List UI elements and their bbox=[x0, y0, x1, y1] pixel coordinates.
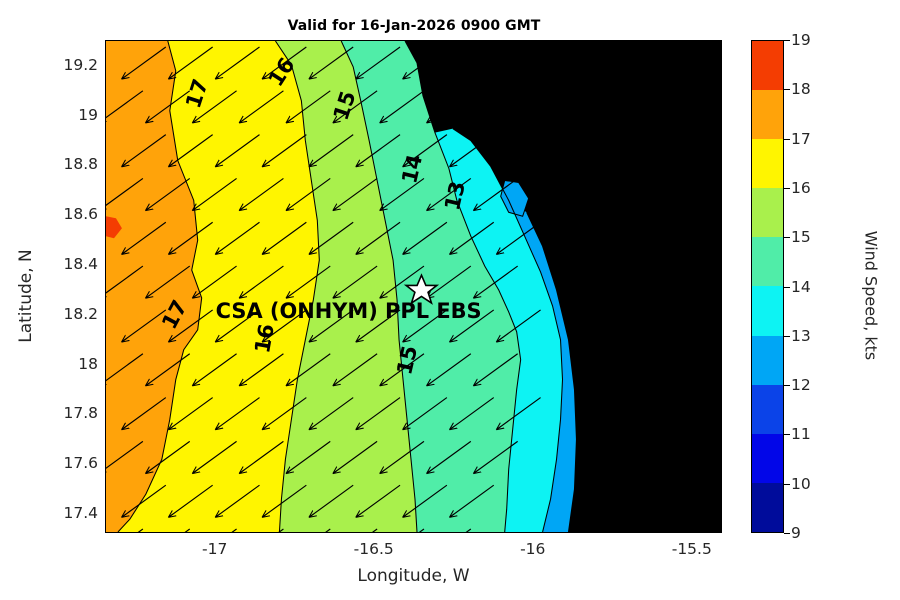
colorbar-segment bbox=[752, 385, 783, 434]
colorbar-segment bbox=[752, 139, 783, 188]
colorbar-segment bbox=[752, 41, 783, 90]
x-tick-label: -16.5 bbox=[354, 540, 394, 558]
colorbar-tick-label: 18 bbox=[791, 80, 811, 98]
y-tick-label: 18 bbox=[78, 355, 98, 373]
colorbar-tick-label: 15 bbox=[791, 228, 811, 246]
colorbar-tick-mark bbox=[784, 336, 790, 337]
y-axis-label: Latitude, N bbox=[16, 196, 36, 396]
y-tick-label: 17.6 bbox=[63, 454, 98, 472]
colorbar-tick-label: 16 bbox=[791, 179, 811, 197]
colorbar-tick-label: 10 bbox=[791, 475, 811, 493]
colorbar-tick-label: 19 bbox=[791, 31, 811, 49]
colorbar-tick-mark bbox=[784, 484, 790, 485]
colorbar-tick-mark bbox=[784, 89, 790, 90]
colorbar-segment bbox=[752, 434, 783, 483]
colorbar-tick-mark bbox=[784, 188, 790, 189]
contour-map: 1716151413171615 CSA (ONHYM) PPL EBS bbox=[106, 41, 721, 532]
colorbar-tick-label: 9 bbox=[791, 524, 801, 542]
y-tick-label: 18.8 bbox=[63, 155, 98, 173]
colorbar-tick-label: 13 bbox=[791, 327, 811, 345]
colorbar-segment bbox=[752, 336, 783, 385]
colorbar-ticks: 910111213141516171819 bbox=[784, 40, 844, 533]
x-tick-label: -16 bbox=[520, 540, 545, 558]
y-tick-label: 18.2 bbox=[63, 305, 98, 323]
colorbar-segment bbox=[752, 188, 783, 237]
x-tick-label: -15.5 bbox=[672, 540, 712, 558]
x-axis-label: Longitude, W bbox=[105, 566, 722, 586]
x-axis-ticks: -17-16.5-16-15.5 bbox=[105, 540, 722, 564]
colorbar-tick-mark bbox=[784, 533, 790, 534]
y-tick-label: 19.2 bbox=[63, 56, 98, 74]
page-title: Valid for 16-Jan-2026 0900 GMT bbox=[105, 18, 723, 34]
colorbar-tick-mark bbox=[784, 434, 790, 435]
colorbar-label: Wind Speed, kts bbox=[862, 186, 881, 406]
colorbar-tick-mark bbox=[784, 237, 790, 238]
y-tick-label: 17.4 bbox=[63, 504, 98, 522]
contour-label: 16 bbox=[250, 322, 279, 355]
colorbar-segment bbox=[752, 483, 783, 532]
colorbar-segment bbox=[752, 90, 783, 139]
colorbar-tick-mark bbox=[784, 139, 790, 140]
y-tick-label: 19 bbox=[78, 106, 98, 124]
colorbar-tick-mark bbox=[784, 287, 790, 288]
colorbar-tick-label: 17 bbox=[791, 130, 811, 148]
colorbar-segment bbox=[752, 286, 783, 335]
colorbar-tick-mark bbox=[784, 385, 790, 386]
x-tick-label: -17 bbox=[202, 540, 227, 558]
map-axes[interactable]: 1716151413171615 CSA (ONHYM) PPL EBS bbox=[105, 40, 722, 533]
colorbar-tick-mark bbox=[784, 40, 790, 41]
colorbar-tick-label: 11 bbox=[791, 425, 811, 443]
colorbar-tick-label: 12 bbox=[791, 376, 811, 394]
colorbar-tick-label: 14 bbox=[791, 278, 811, 296]
y-tick-label: 18.4 bbox=[63, 255, 98, 273]
y-tick-label: 17.8 bbox=[63, 404, 98, 422]
site-label: CSA (ONHYM) PPL EBS bbox=[216, 299, 482, 323]
colorbar-segment bbox=[752, 237, 783, 286]
colorbar[interactable] bbox=[751, 40, 784, 533]
y-tick-label: 18.6 bbox=[63, 205, 98, 223]
